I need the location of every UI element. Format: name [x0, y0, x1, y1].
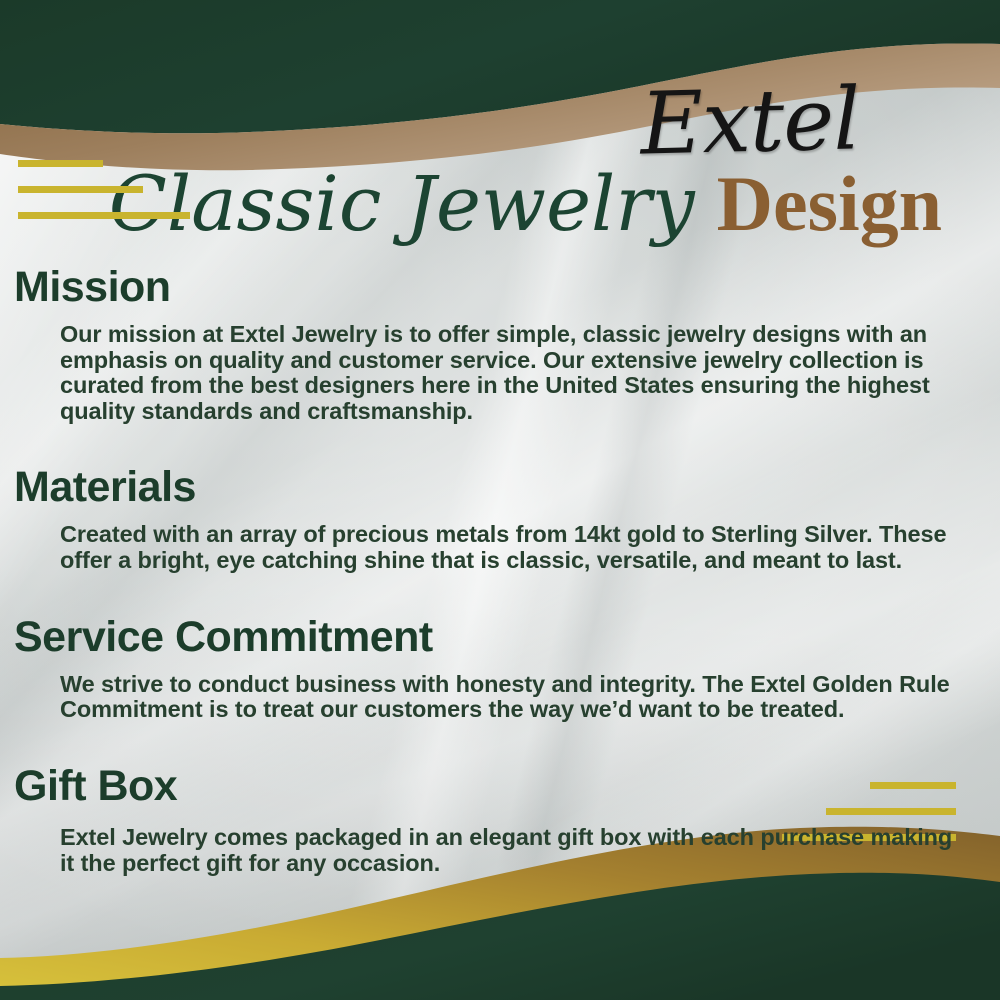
section-gift-box: Gift Box Extel Jewelry comes packaged in…: [0, 727, 1000, 876]
section-body-service: We strive to conduct business with hones…: [0, 672, 1000, 723]
section-heading-materials: Materials: [0, 428, 1000, 514]
section-heading-mission: Mission: [0, 252, 1000, 314]
accent-bar: [18, 160, 103, 167]
section-heading-gift-box: Gift Box: [0, 727, 1000, 813]
title-script-part: Classic Jewelry: [109, 156, 695, 252]
accent-bar: [18, 212, 190, 219]
section-body-gift-box: Extel Jewelry comes packaged in an elega…: [0, 824, 1000, 876]
section-heading-service: Service Commitment: [0, 578, 1000, 664]
accent-bar: [18, 186, 143, 193]
content-sections: Mission Our mission at Extel Jewelry is …: [0, 252, 1000, 880]
section-body-materials: Created with an array of precious metals…: [0, 522, 1000, 573]
title-serif-part: Design: [717, 156, 942, 252]
section-service-commitment: Service Commitment We strive to conduct …: [0, 578, 1000, 723]
poster-canvas: Extel Classic Jewelry Design Mission Our…: [0, 0, 1000, 1000]
section-materials: Materials Created with an array of preci…: [0, 428, 1000, 573]
accent-bars-top-left: [0, 160, 190, 238]
section-body-mission: Our mission at Extel Jewelry is to offer…: [0, 322, 1000, 424]
section-mission: Mission Our mission at Extel Jewelry is …: [0, 252, 1000, 424]
